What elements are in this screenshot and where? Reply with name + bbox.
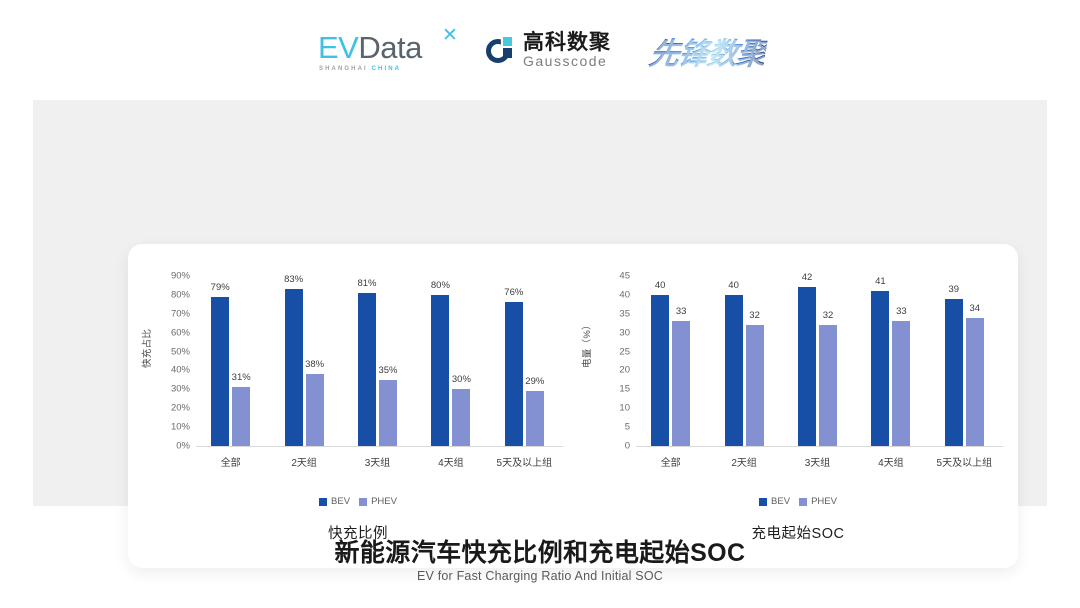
legend-label: PHEV (371, 496, 397, 507)
x-axis-category-label-right: 5天及以上组 (937, 454, 993, 469)
y-axis-tick-right: 25 (619, 346, 630, 357)
y-axis-tick-left: 0% (176, 441, 190, 452)
bar-phev-right (672, 321, 690, 446)
bar-bev-right (871, 291, 889, 446)
chart-fast-charging-ratio: 快充占比90%80%70%60%50%40%30%20%10%0%79%31%全… (138, 244, 578, 568)
bar-value-label-right: 40 (655, 280, 666, 291)
bar-phev-right (966, 318, 984, 446)
y-axis-tick-right: 15 (619, 384, 630, 395)
bar-bev-left (358, 293, 376, 446)
bar-value-label-right: 32 (749, 310, 760, 321)
bar-value-label-left: 35% (378, 365, 397, 376)
bar-bev-left (285, 289, 303, 446)
x-axis-category-label-right: 3天组 (805, 454, 831, 469)
legend-label: BEV (331, 496, 350, 507)
evdata-tagline-city: SHANGHAI (319, 66, 368, 72)
y-axis-title-right: 电量（%） (579, 352, 593, 368)
x-axis-baseline-right (636, 446, 1003, 447)
x-axis-category-label-left: 4天组 (438, 454, 464, 469)
bar-bev-left (431, 295, 449, 446)
legend-left: BEVPHEV (138, 496, 578, 507)
legend-item-phev-right[interactable]: PHEV (799, 496, 837, 507)
bar-value-label-right: 39 (949, 284, 960, 295)
y-axis-tick-left: 70% (171, 308, 190, 319)
bar-value-label-right: 40 (728, 280, 739, 291)
bar-bev-right (798, 287, 816, 446)
bar-phev-left (306, 374, 324, 446)
bar-value-label-right: 34 (970, 303, 981, 314)
y-axis-tick-right: 5 (625, 422, 630, 433)
y-axis-tick-left: 20% (171, 403, 190, 414)
gausscode-en-text: Gausscode (523, 54, 611, 69)
legend-item-bev-left[interactable]: BEV (319, 496, 350, 507)
bar-value-label-left: 81% (357, 278, 376, 289)
y-axis-tick-right: 35 (619, 308, 630, 319)
bar-phev-left (379, 380, 397, 446)
plot-area-left: 快充占比90%80%70%60%50%40%30%20%10%0%79%31%全… (138, 258, 578, 473)
page-title: 新能源汽车快充比例和充电起始SOC (0, 533, 1080, 569)
y-axis-title-left: 快充占比 (139, 352, 153, 368)
legend-swatch-icon (759, 498, 767, 506)
evdata-tagline: SHANGHAI CHINA (319, 66, 401, 72)
bar-value-label-right: 42 (802, 272, 813, 283)
y-axis-tick-left: 90% (171, 271, 190, 282)
bar-value-label-right: 32 (823, 310, 834, 321)
bar-phev-left (526, 391, 544, 446)
y-axis-tick-right: 10 (619, 403, 630, 414)
y-axis-tick-left: 60% (171, 327, 190, 338)
bar-phev-right (746, 325, 764, 446)
content-panel: 快充占比90%80%70%60%50%40%30%20%10%0%79%31%全… (33, 100, 1047, 506)
chart-initial-soc: 电量（%）4540353025201510504033全部40322天组4232… (578, 244, 1018, 568)
x-axis-category-label-left: 2天组 (291, 454, 317, 469)
bar-value-label-left: 83% (284, 274, 303, 285)
bar-bev-left (505, 302, 523, 446)
legend-item-phev-left[interactable]: PHEV (359, 496, 397, 507)
x-axis-category-label-right: 全部 (661, 454, 681, 469)
y-axis-tick-right: 40 (619, 289, 630, 300)
evdata-data-text: Data (358, 30, 421, 65)
bar-value-label-left: 29% (525, 376, 544, 387)
charts-card: 快充占比90%80%70%60%50%40%30%20%10%0%79%31%全… (128, 244, 1018, 568)
y-axis-tick-right: 20 (619, 365, 630, 376)
x-axis-category-label-right: 4天组 (878, 454, 904, 469)
gausscode-cn-text: 高科数聚 (523, 32, 611, 54)
plot-area-right: 电量（%）4540353025201510504033全部40322天组4232… (578, 258, 1018, 473)
y-axis-tick-left: 50% (171, 346, 190, 357)
x-axis-baseline-left (196, 446, 563, 447)
xianfeng-logo: 先锋数聚 (647, 29, 770, 73)
bar-bev-right (651, 295, 669, 446)
y-axis-tick-right: 45 (619, 271, 630, 282)
y-axis-tick-left: 80% (171, 289, 190, 300)
bar-value-label-left: 30% (452, 374, 471, 385)
legend-item-bev-right[interactable]: BEV (759, 496, 790, 507)
bar-bev-right (945, 299, 963, 446)
bar-phev-right (819, 325, 837, 446)
x-axis-category-label-right: 2天组 (731, 454, 757, 469)
x-axis-category-label-left: 5天及以上组 (497, 454, 553, 469)
bar-value-label-right: 41 (875, 276, 886, 287)
legend-label: PHEV (811, 496, 837, 507)
bar-value-label-left: 76% (504, 287, 523, 298)
y-axis-tick-right: 0 (625, 441, 630, 452)
y-axis-tick-left: 10% (171, 422, 190, 433)
evdata-logo: EVData ✕ SHANGHAI CHINA (314, 26, 464, 76)
bar-value-label-left: 79% (211, 282, 230, 293)
page-subtitle: EV for Fast Charging Ratio And Initial S… (0, 569, 1080, 583)
logo-header: EVData ✕ SHANGHAI CHINA 高科数聚 Gausscode 先… (0, 22, 1080, 80)
y-axis-tick-right: 30 (619, 327, 630, 338)
y-axis-tick-left: 40% (171, 365, 190, 376)
legend-label: BEV (771, 496, 790, 507)
bar-value-label-left: 38% (305, 359, 324, 370)
x-axis-category-label-left: 全部 (221, 454, 241, 469)
evdata-ev-text: EV (318, 30, 358, 65)
legend-swatch-icon (319, 498, 327, 506)
bar-phev-left (452, 389, 470, 446)
legend-swatch-icon (359, 498, 367, 506)
bar-bev-left (211, 297, 229, 446)
bar-value-label-left: 31% (232, 372, 251, 383)
bar-value-label-left: 80% (431, 280, 450, 291)
bar-value-label-right: 33 (676, 306, 687, 317)
legend-swatch-icon (799, 498, 807, 506)
bar-bev-right (725, 295, 743, 446)
evdata-wordmark: EVData (318, 32, 422, 63)
legend-right: BEVPHEV (578, 496, 1018, 507)
evdata-tagline-country: CHINA (372, 66, 402, 72)
y-axis-tick-left: 30% (171, 384, 190, 395)
x-mark-icon: ✕ (442, 26, 458, 45)
x-axis-category-label-left: 3天组 (365, 454, 391, 469)
bar-value-label-right: 33 (896, 306, 907, 317)
gausscode-mark-icon (486, 36, 516, 66)
bar-phev-left (232, 387, 250, 446)
gausscode-logo: 高科数聚 Gausscode (486, 28, 628, 74)
bar-phev-right (892, 321, 910, 446)
